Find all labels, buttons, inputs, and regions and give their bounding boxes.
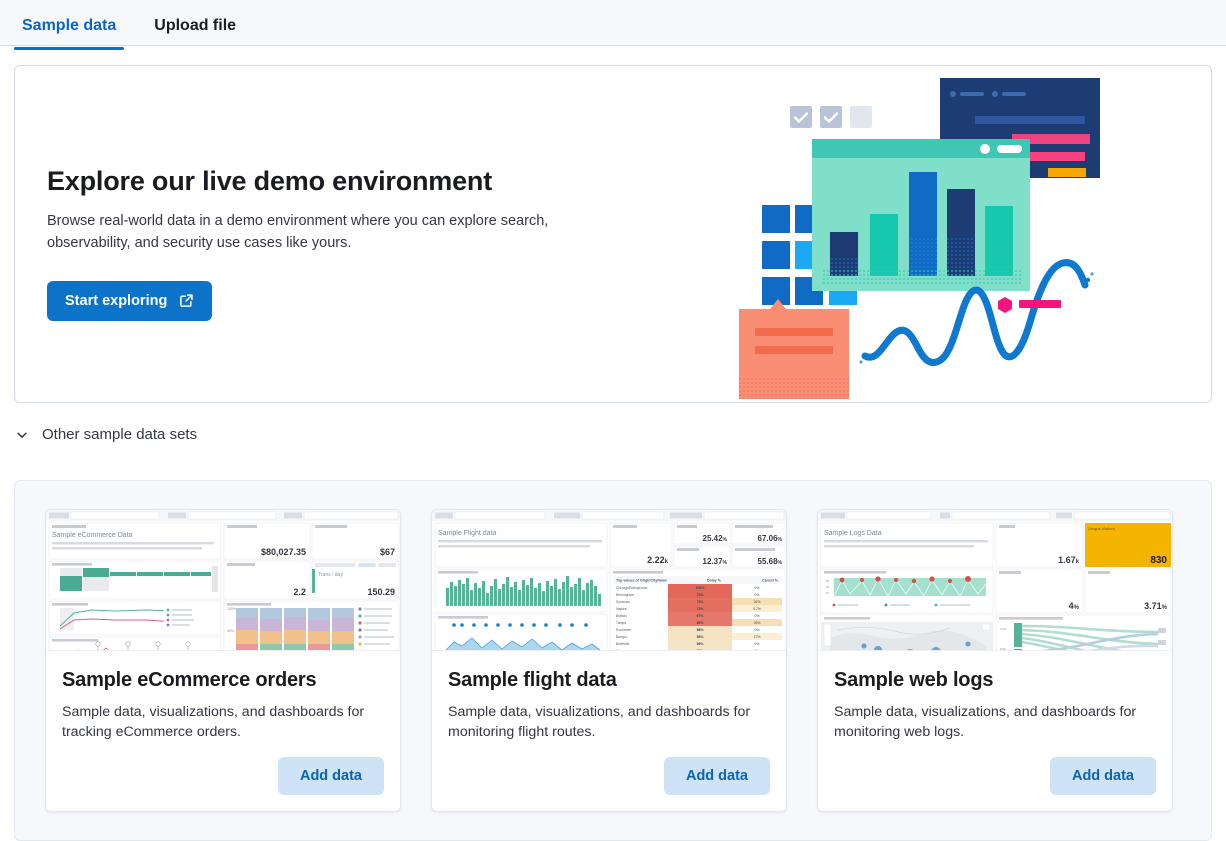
svg-text:Belleville: Belleville xyxy=(616,642,629,646)
svg-text:Chicago/Bolingbrook: Chicago/Bolingbrook xyxy=(616,586,648,590)
page-title: Explore our live demo environment xyxy=(47,166,607,197)
card-body: Sample web logs Sample data, visualizati… xyxy=(818,651,1172,811)
card-description: Sample data, visualizations, and dashboa… xyxy=(448,702,770,743)
add-data-button-ecommerce[interactable]: Add data xyxy=(278,757,384,795)
svg-text:2.2: 2.2 xyxy=(293,587,306,597)
svg-text:0%: 0% xyxy=(755,628,760,632)
card-description: Sample data, visualizations, and dashboa… xyxy=(62,702,384,743)
svg-text:17%: 17% xyxy=(754,635,761,639)
svg-text:30: 30 xyxy=(826,579,830,583)
tab-upload-file-label: Upload file xyxy=(154,17,236,34)
hero-subtitle: Browse real-world data in a demo environ… xyxy=(47,211,572,255)
svg-text:Trans / day: Trans / day xyxy=(318,572,343,578)
svg-text:0.7%: 0.7% xyxy=(753,607,761,611)
card-description: Sample data, visualizations, and dashboa… xyxy=(834,702,1156,743)
svg-text:0%: 0% xyxy=(755,593,760,597)
card-body: Sample flight data Sample data, visualiz… xyxy=(432,651,786,811)
salmon-note-card xyxy=(739,299,849,399)
demo-environment-illustration xyxy=(715,66,1115,403)
tab-sample-data-label: Sample data xyxy=(22,17,116,34)
svg-text:Top values of OriginCityName: Top values of OriginCityName xyxy=(616,579,667,583)
svg-text:Birmingham: Birmingham xyxy=(616,593,634,597)
start-exploring-button[interactable]: Start exploring xyxy=(47,281,212,321)
svg-text:26%: 26% xyxy=(754,600,761,604)
svg-text:Syracuse: Syracuse xyxy=(616,600,630,604)
tab-upload-file[interactable]: Upload file xyxy=(146,0,244,49)
svg-text:$80,027.35: $80,027.35 xyxy=(261,547,306,557)
ecommerce-dashboard-thumbnail: Sample eCommerce Data $80,027.35 $67 xyxy=(46,510,400,651)
svg-text:Unique Visitors: Unique Visitors xyxy=(1088,526,1115,531)
sample-data-cards-container: Sample eCommerce Data $80,027.35 $67 xyxy=(14,480,1212,841)
svg-text:Cancel %: Cancel % xyxy=(762,579,779,583)
svg-text:1.00: 1.00 xyxy=(1000,627,1006,631)
svg-text:73%: 73% xyxy=(697,600,704,604)
svg-text:830: 830 xyxy=(1150,555,1167,566)
flight-dashboard-thumbnail: Sample Flight data 2.22k 25.42% 67.06% 1… xyxy=(432,510,786,651)
sample-data-card-weblogs[interactable]: Sample Logs Data 1.67k Unique Visitors 8… xyxy=(817,509,1173,812)
weblogs-dashboard-thumbnail: Sample Logs Data 1.67k Unique Visitors 8… xyxy=(818,510,1172,651)
svg-text:Bangor: Bangor xyxy=(616,635,628,639)
svg-text:Sample Flight data: Sample Flight data xyxy=(438,530,496,537)
add-data-button-weblogs[interactable]: Add data xyxy=(1050,757,1156,795)
svg-text:0.50: 0.50 xyxy=(1000,647,1006,651)
svg-text:20: 20 xyxy=(826,585,830,589)
svg-text:0%: 0% xyxy=(755,586,760,590)
svg-text:0%: 0% xyxy=(755,642,760,646)
card-actions: Add data xyxy=(834,743,1156,795)
svg-text:50%: 50% xyxy=(227,629,234,633)
svg-text:10: 10 xyxy=(826,591,830,595)
tab-sample-data[interactable]: Sample data xyxy=(14,0,124,49)
card-actions: Add data xyxy=(448,743,770,795)
svg-text:$67: $67 xyxy=(380,547,395,557)
svg-text:Rochester: Rochester xyxy=(616,628,632,632)
svg-text:100%: 100% xyxy=(696,586,705,590)
accordion-label: Other sample data sets xyxy=(42,426,197,443)
start-exploring-label: Start exploring xyxy=(65,293,167,309)
sample-data-card-flight[interactable]: Sample Flight data 2.22k 25.42% 67.06% 1… xyxy=(431,509,787,812)
svg-text:150.29: 150.29 xyxy=(367,587,395,597)
svg-text:58%: 58% xyxy=(697,635,704,639)
card-actions: Add data xyxy=(62,743,384,795)
sample-data-card-ecommerce[interactable]: Sample eCommerce Data $80,027.35 $67 xyxy=(45,509,401,812)
other-sample-data-sets-accordion[interactable]: Other sample data sets xyxy=(14,426,197,443)
svg-text:Buffalo: Buffalo xyxy=(616,614,627,618)
svg-text:58%: 58% xyxy=(697,628,704,632)
card-title: Sample flight data xyxy=(448,669,770,692)
svg-text:26%: 26% xyxy=(754,621,761,625)
svg-text:56%: 56% xyxy=(697,642,704,646)
demo-environment-panel: Explore our live demo environment Browse… xyxy=(14,65,1212,403)
checkbox-group xyxy=(790,106,872,128)
svg-text:Tampa: Tampa xyxy=(616,621,626,625)
card-title: Sample eCommerce orders xyxy=(62,669,384,692)
chevron-down-icon xyxy=(14,427,30,443)
external-link-icon xyxy=(179,293,194,308)
svg-text:Naples: Naples xyxy=(616,607,627,611)
hero-text-block: Explore our live demo environment Browse… xyxy=(47,166,607,321)
tab-bar: Sample data Upload file xyxy=(0,0,1226,46)
svg-text:0%: 0% xyxy=(755,614,760,618)
svg-text:66%: 66% xyxy=(697,621,704,625)
add-data-button-flight[interactable]: Add data xyxy=(664,757,770,795)
svg-text:Guam: Guam xyxy=(616,649,625,651)
svg-text:73%: 73% xyxy=(697,593,704,597)
svg-text:Sample eCommerce Data: Sample eCommerce Data xyxy=(52,532,133,539)
svg-text:73%: 73% xyxy=(697,607,704,611)
svg-text:Delay %: Delay % xyxy=(707,579,722,583)
card-title: Sample web logs xyxy=(834,669,1156,692)
svg-text:100%: 100% xyxy=(227,607,236,611)
svg-text:67%: 67% xyxy=(697,614,704,618)
card-body: Sample eCommerce orders Sample data, vis… xyxy=(46,651,400,811)
svg-text:0%: 0% xyxy=(755,649,760,651)
svg-text:55%: 55% xyxy=(697,649,704,651)
svg-text:Sample Logs Data: Sample Logs Data xyxy=(824,530,882,537)
teal-chart-window xyxy=(812,139,1030,291)
